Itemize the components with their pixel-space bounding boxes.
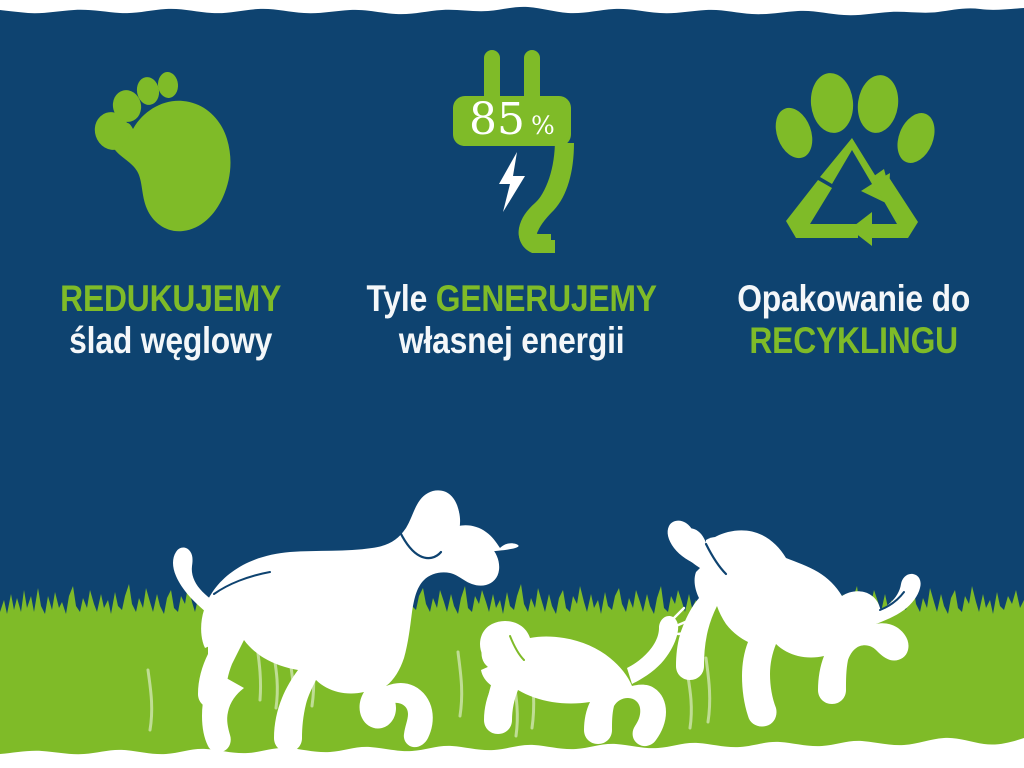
icon-cell-plug: 85 % [341,48,682,264]
headline-col-2-line1: Tyle GENERUJEMY [365,278,659,320]
large-dog-labrador [173,490,519,752]
icon-cell-footprint [0,48,341,264]
headline-col-3-line1: Opakowanie do [707,278,1001,320]
plug-percent-unit: % [531,111,555,140]
headline-col-3: Opakowanie do RECYKLINGU [707,278,1001,398]
dogs-silhouettes [0,470,1024,768]
headline-col-2: Tyle GENERUJEMY własnej energii [365,278,659,398]
headline-col-1: REDUKUJEMY ślad węglowy [24,278,318,398]
icons-row: 85 % [0,48,1024,264]
icon-cell-recycle [683,48,1024,264]
headline-col-2-prefix: Tyle [367,278,436,319]
small-dog-dachshund [480,608,694,746]
eco-infographic-poster: 85 % [0,0,1024,768]
paw-recycle-icon [766,66,941,246]
headline-col-2-keyword: GENERUJEMY [436,278,657,319]
headline-col-3-line2: RECYKLINGU [707,320,1001,362]
headline-col-2-line2: własnej energii [365,320,659,362]
headline-col-1-line1: REDUKUJEMY [24,278,318,320]
headline-row: REDUKUJEMY ślad węglowy Tyle GENERUJEMY … [0,278,1024,398]
headline-col-1-line2: ślad węglowy [24,320,318,362]
power-plug-icon: 85 % [447,48,577,253]
plug-percent-value: 85 [469,94,525,145]
footprint-icon [71,71,271,241]
medium-dog-pointer [668,521,921,727]
